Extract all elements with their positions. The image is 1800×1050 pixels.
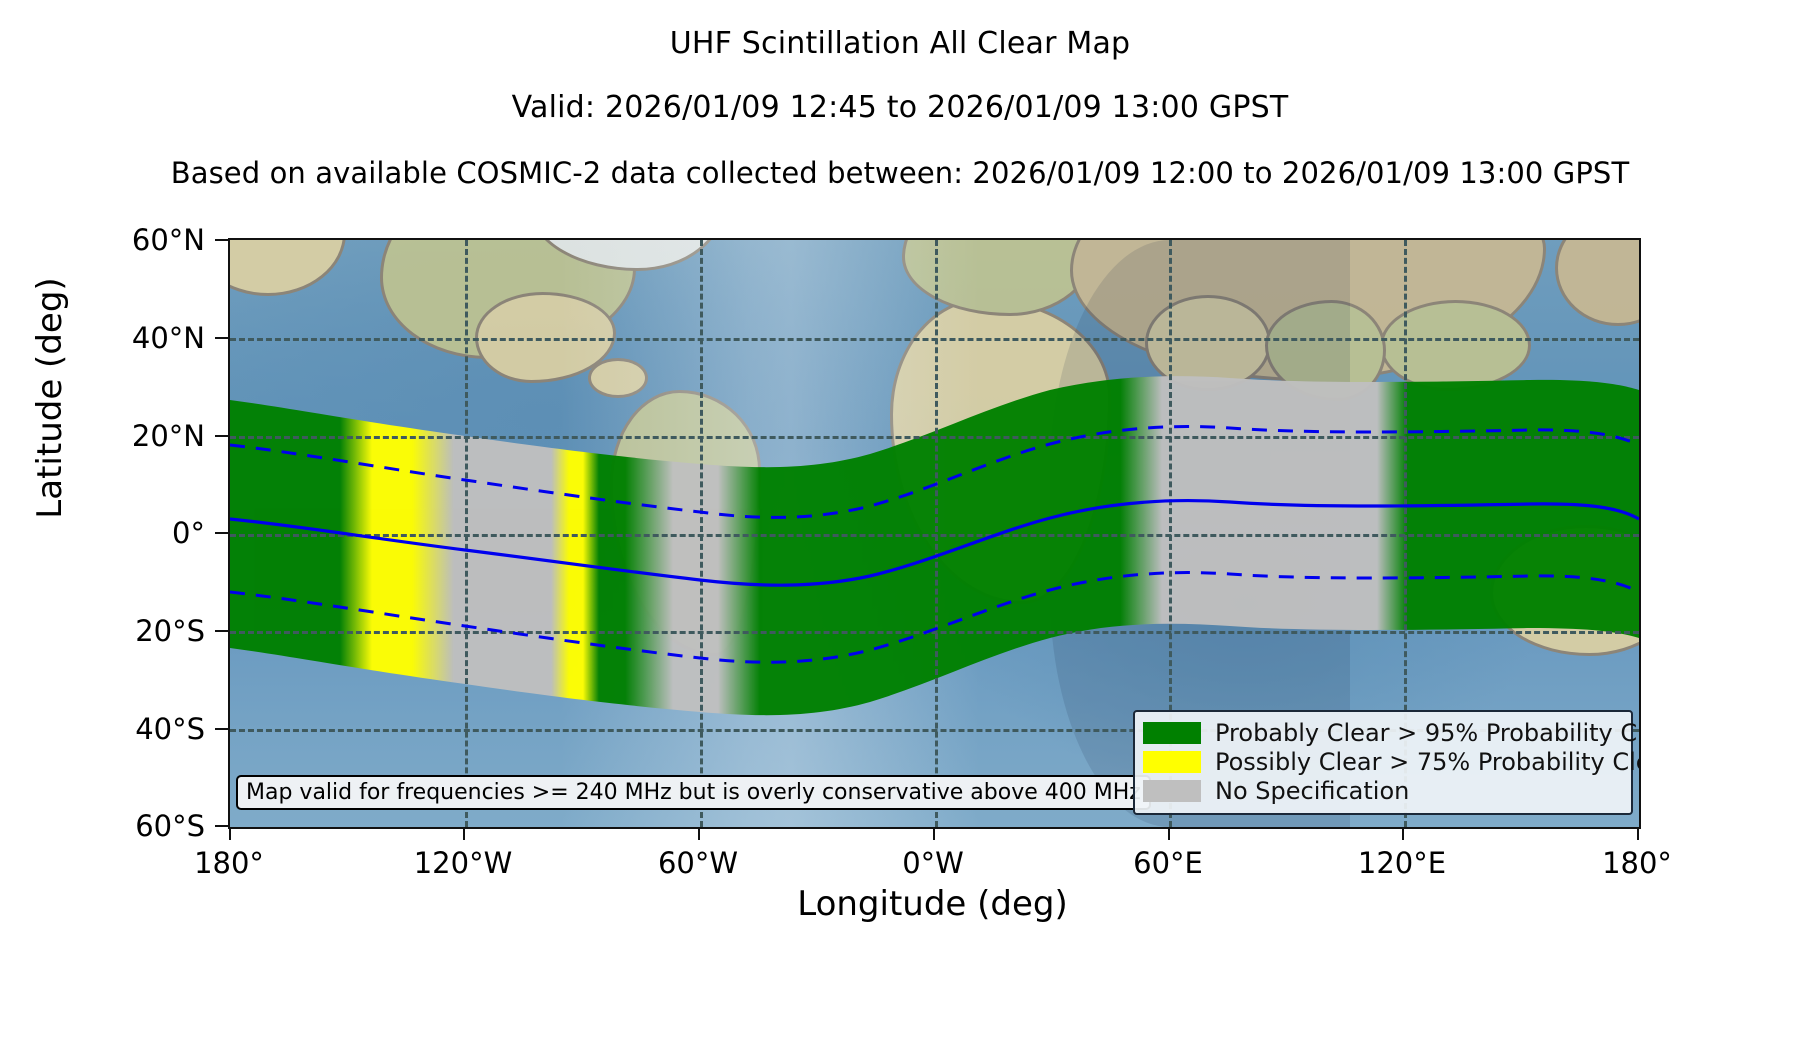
frequency-note-text: Map valid for frequencies >= 240 MHz but… bbox=[246, 780, 1141, 805]
legend-swatch-gray bbox=[1143, 780, 1201, 802]
ytick-mark-40S bbox=[215, 728, 228, 730]
y-axis-title: Latitude (deg) bbox=[30, 208, 70, 588]
ytick-label-20S: 20°S bbox=[0, 614, 205, 648]
ytick-mark-60N bbox=[215, 239, 228, 241]
validity-subtitle: Valid: 2026/01/09 12:45 to 2026/01/09 13… bbox=[0, 90, 1800, 125]
legend-label-possibly-clear: Possibly Clear > 75% Probability Clear bbox=[1215, 748, 1641, 776]
ytick-label-60S: 60°S bbox=[0, 809, 205, 843]
map-plot-area[interactable]: Map valid for frequencies >= 240 MHz but… bbox=[228, 238, 1641, 829]
data-source-subtitle: Based on available COSMIC-2 data collect… bbox=[0, 156, 1800, 190]
curve-north-crest bbox=[230, 427, 1639, 518]
xtick-mark-60W bbox=[698, 827, 700, 840]
xtick-label-180W: 180° bbox=[129, 846, 329, 880]
legend-label-probably-clear: Probably Clear > 95% Probability Clear bbox=[1215, 719, 1641, 747]
ytick-mark-20S bbox=[215, 630, 228, 632]
frequency-note-box: Map valid for frequencies >= 240 MHz but… bbox=[236, 775, 1151, 810]
legend-item-possibly-clear: Possibly Clear > 75% Probability Clear bbox=[1143, 747, 1623, 776]
map-legend: Probably Clear > 95% Probability Clear P… bbox=[1133, 710, 1633, 815]
xtick-mark-180E bbox=[1637, 827, 1639, 840]
xtick-mark-0 bbox=[933, 827, 935, 840]
ytick-label-40S: 40°S bbox=[0, 712, 205, 746]
legend-item-no-specification: No Specification bbox=[1143, 776, 1623, 805]
xtick-mark-120W bbox=[463, 827, 465, 840]
xtick-label-180E: 180° bbox=[1537, 846, 1737, 880]
xtick-label-0: 0°W bbox=[833, 846, 1033, 880]
ytick-mark-20N bbox=[215, 435, 228, 437]
ytick-mark-0 bbox=[215, 532, 228, 534]
xtick-label-120E: 120°E bbox=[1302, 846, 1502, 880]
legend-item-probably-clear: Probably Clear > 95% Probability Clear bbox=[1143, 718, 1623, 747]
xtick-label-120W: 120°W bbox=[363, 846, 563, 880]
curve-south-crest bbox=[230, 573, 1639, 663]
xtick-mark-180W bbox=[229, 827, 231, 840]
x-axis-title: Longitude (deg) bbox=[228, 884, 1637, 924]
figure-canvas: UHF Scintillation All Clear Map Valid: 2… bbox=[0, 0, 1800, 1050]
legend-swatch-yellow bbox=[1143, 751, 1201, 773]
page-title: UHF Scintillation All Clear Map bbox=[0, 26, 1800, 61]
ytick-mark-60S bbox=[215, 825, 228, 827]
xtick-mark-120E bbox=[1402, 827, 1404, 840]
legend-label-no-specification: No Specification bbox=[1215, 777, 1409, 805]
title-block: UHF Scintillation All Clear Map Valid: 2… bbox=[0, 0, 1800, 190]
xtick-mark-60E bbox=[1168, 827, 1170, 840]
ytick-mark-40N bbox=[215, 337, 228, 339]
curve-magnetic-equator bbox=[230, 501, 1639, 586]
legend-swatch-green bbox=[1143, 722, 1201, 744]
xtick-label-60E: 60°E bbox=[1068, 846, 1268, 880]
xtick-label-60W: 60°W bbox=[598, 846, 798, 880]
